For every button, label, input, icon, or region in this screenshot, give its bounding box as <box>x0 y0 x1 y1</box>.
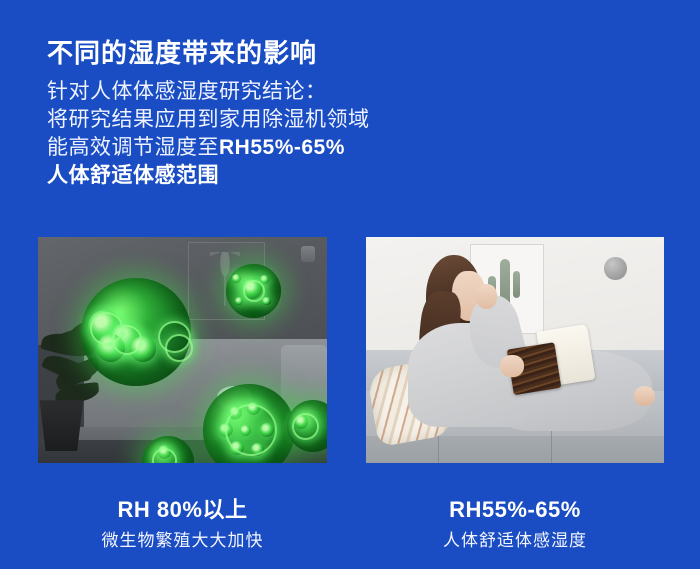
photo-comfortable-humidity-woman <box>366 237 664 463</box>
microbe-cluster-small-top <box>226 264 281 318</box>
cactus-arm-right <box>513 271 520 297</box>
wall-speaker-icon <box>604 257 626 280</box>
page-title: 不同的湿度带来的影响 <box>47 37 317 70</box>
woman-hand-holding-book <box>500 355 524 378</box>
right-room-scene <box>366 237 664 463</box>
plant-pot <box>38 400 86 451</box>
body-copy-line-4: 人体舒适体感范围 <box>47 162 370 190</box>
left-room-scene <box>38 237 327 463</box>
body-copy-line-3: 能高效调节湿度至RH55%-65% <box>47 134 370 162</box>
body-copy-line-1: 针对人体体感湿度研究结论： <box>47 78 370 106</box>
body-copy-line-2: 将研究结果应用到家用除湿机领域 <box>47 106 370 134</box>
caption-right-title: RH55%-65% <box>366 497 664 523</box>
woman-hand-at-head <box>476 284 497 309</box>
caption-left: RH 80%以上 微生物繁殖大大加快 <box>38 497 327 553</box>
wall-sensor-icon <box>301 246 315 262</box>
caption-right: RH55%-65% 人体舒适体感湿度 <box>366 497 664 553</box>
microbe-cluster-large <box>81 278 191 386</box>
humidity-range-highlight: RH55%-65% <box>219 136 345 159</box>
sofa-seam <box>551 431 552 463</box>
body-copy: 针对人体体感湿度研究结论： 将研究结果应用到家用除湿机领域 能高效调节湿度至RH… <box>47 78 370 190</box>
photo-high-humidity-microbes <box>38 237 327 463</box>
caption-right-subtitle: 人体舒适体感湿度 <box>366 529 664 553</box>
caption-left-title: RH 80%以上 <box>38 497 327 523</box>
caption-left-subtitle: 微生物繁殖大大加快 <box>38 529 327 553</box>
body-copy-line-3-prefix: 能高效调节湿度至 <box>47 136 219 159</box>
humidity-impact-poster: 不同的湿度带来的影响 针对人体体感湿度研究结论： 将研究结果应用到家用除湿机领域… <box>0 0 700 569</box>
